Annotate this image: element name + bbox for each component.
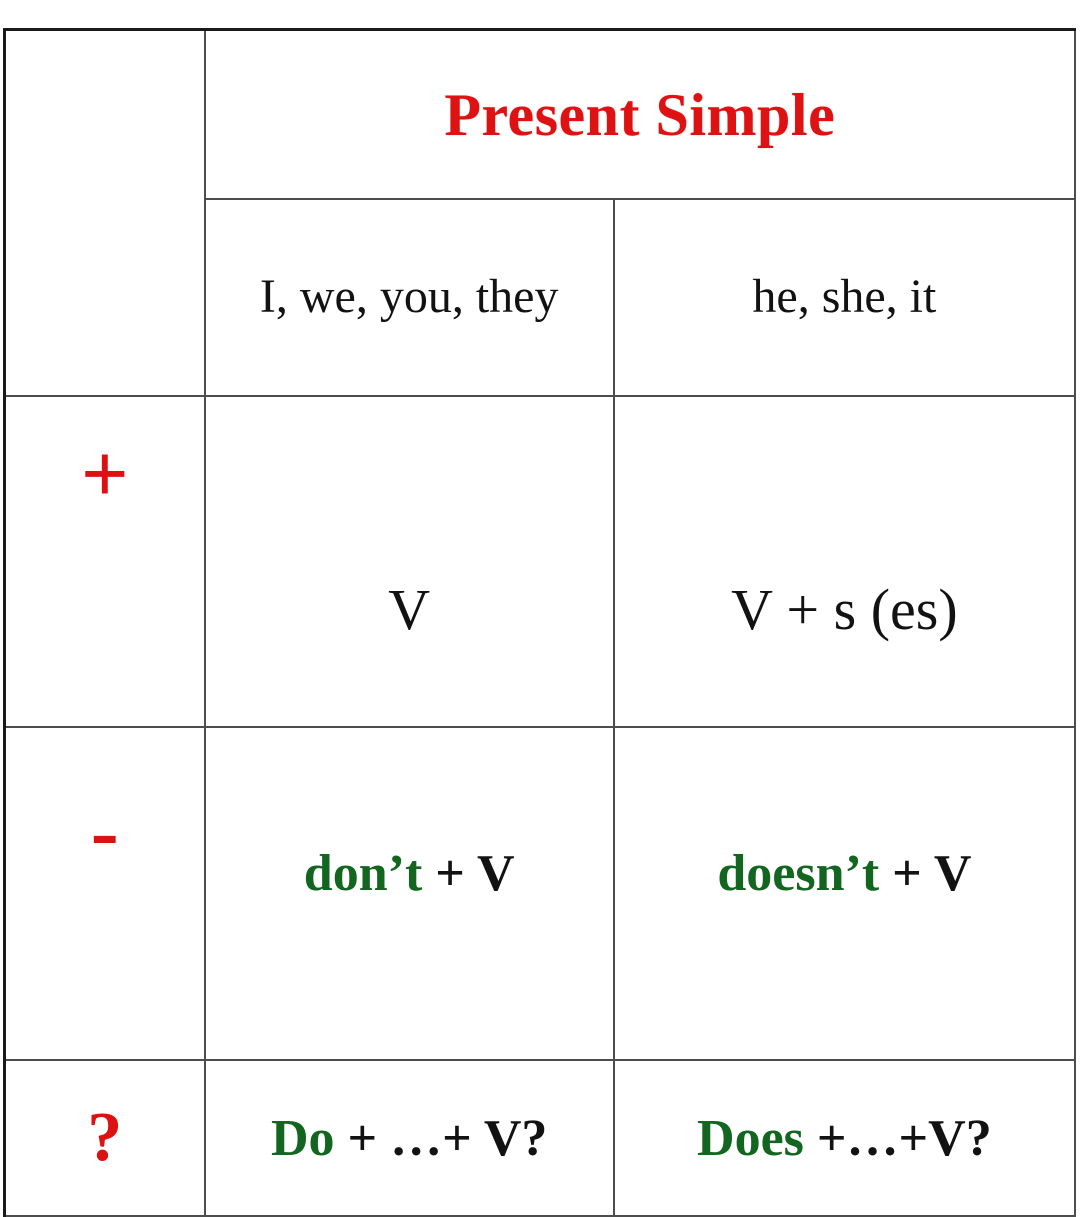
affirmative-third-person-cell: V + s (es) <box>614 396 1075 727</box>
question-plural-form: Do + …+ V? <box>206 1109 613 1168</box>
title-row: Present Simple <box>5 30 1076 200</box>
affirmative-third-person-form: V + s (es) <box>615 576 1074 643</box>
question-third-person-cell: Does +…+V? <box>614 1060 1075 1216</box>
column-header-third-person-cell: he, she, it <box>614 199 1075 396</box>
question-third-person-rest: +…+V? <box>804 1110 992 1167</box>
column-header-plural-cell: I, we, you, they <box>205 199 614 396</box>
question-sign-cell: ? <box>5 1060 205 1216</box>
question-plural-cell: Do + …+ V? <box>205 1060 614 1216</box>
negative-plural-auxiliary: don’t <box>304 845 422 902</box>
negative-third-person-cell: doesn’t + V <box>614 727 1075 1060</box>
table-title-cell: Present Simple <box>205 30 1075 200</box>
minus-sign-icon: - <box>6 790 204 874</box>
sign-column-header-cell <box>5 30 205 397</box>
affirmative-row: + V V + s (es) <box>5 396 1076 727</box>
negative-third-person-form: doesn’t + V <box>615 844 1074 903</box>
column-header-plural: I, we, you, they <box>206 269 613 326</box>
affirmative-plural-form: V <box>206 576 613 643</box>
negative-sign-cell: - <box>5 727 205 1060</box>
negative-row: - don’t + V doesn’t + V <box>5 727 1076 1060</box>
question-plural-rest: + …+ V? <box>335 1110 548 1167</box>
negative-third-person-rest: + V <box>879 845 971 902</box>
affirmative-sign-cell: + <box>5 396 205 727</box>
page-title: Present Simple <box>444 82 835 148</box>
grammar-chart-page: Present Simple I, we, you, they he, she,… <box>0 0 1080 1204</box>
negative-third-person-auxiliary: doesn’t <box>717 845 879 902</box>
column-header-third-person: he, she, it <box>615 269 1074 326</box>
present-simple-table: Present Simple I, we, you, they he, she,… <box>3 28 1076 1217</box>
affirmative-plural-cell: V <box>205 396 614 727</box>
negative-plural-form: don’t + V <box>206 844 613 903</box>
plus-sign-icon: + <box>6 433 204 517</box>
question-third-person-auxiliary: Does <box>697 1110 804 1167</box>
question-third-person-form: Does +…+V? <box>615 1109 1074 1168</box>
negative-plural-rest: + V <box>422 845 514 902</box>
question-plural-auxiliary: Do <box>271 1110 335 1167</box>
question-row: ? Do + …+ V? Does +…+V? <box>5 1060 1076 1216</box>
question-mark-icon: ? <box>6 1103 204 1173</box>
negative-plural-cell: don’t + V <box>205 727 614 1060</box>
